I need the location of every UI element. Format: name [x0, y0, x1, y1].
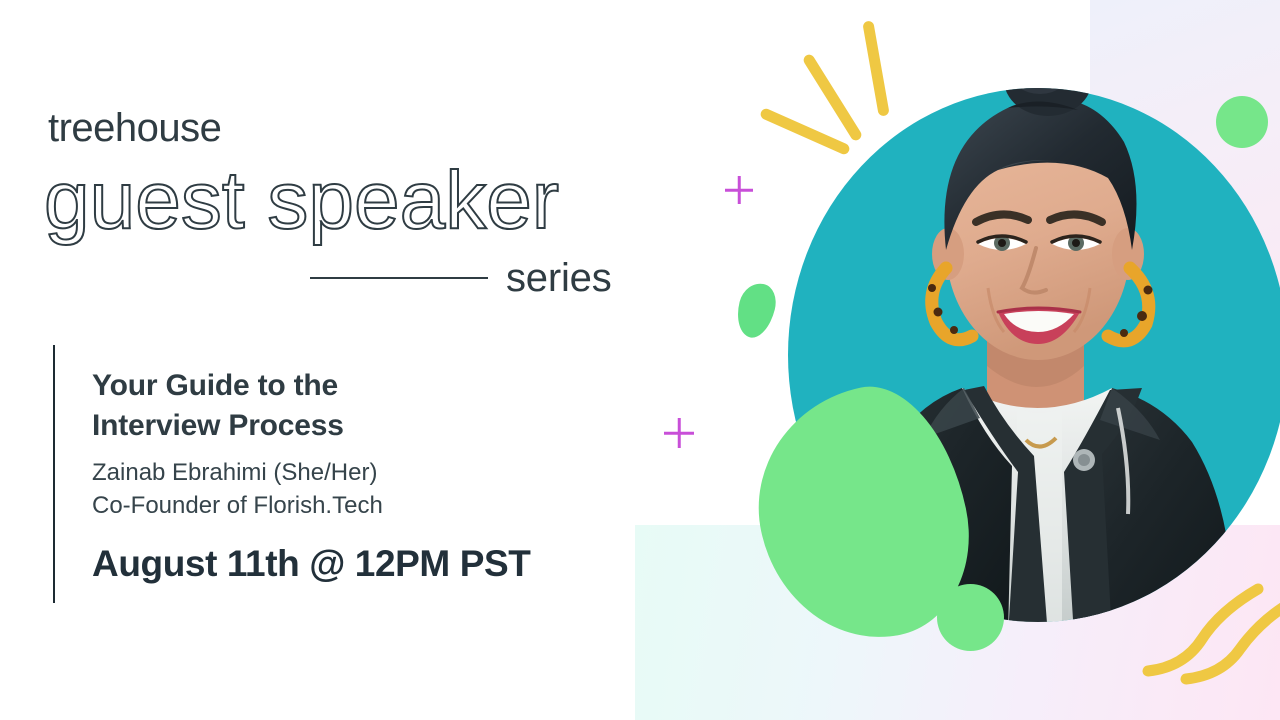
event-datetime: August 11th @ 12PM PST — [92, 544, 612, 585]
headline-outline-text: guest speaker — [44, 158, 559, 244]
series-label: series — [506, 258, 612, 298]
magenta-plus-icon-lower — [664, 418, 694, 448]
speaker-role: Co-Founder of Florish.Tech — [92, 490, 612, 523]
speaker-name: Zainab Ebrahimi (She/Her) — [92, 457, 612, 490]
talk-title: Your Guide to the Interview Process — [92, 366, 612, 445]
magenta-plus-icon-upper — [725, 176, 753, 204]
series-row: series — [310, 255, 625, 301]
green-circle-bottom-shape — [937, 584, 1004, 651]
green-blob-small-shape — [732, 279, 780, 341]
series-divider-rule — [310, 277, 488, 279]
brand-wordmark: treehouse — [48, 108, 221, 148]
details-vertical-rule — [53, 345, 55, 603]
guest-speaker-promo-graphic: treehouse guest speaker series Your Guid… — [0, 0, 1280, 720]
session-details: Your Guide to the Interview Process Zain… — [92, 366, 612, 585]
yellow-wave-strokes — [1140, 575, 1280, 685]
